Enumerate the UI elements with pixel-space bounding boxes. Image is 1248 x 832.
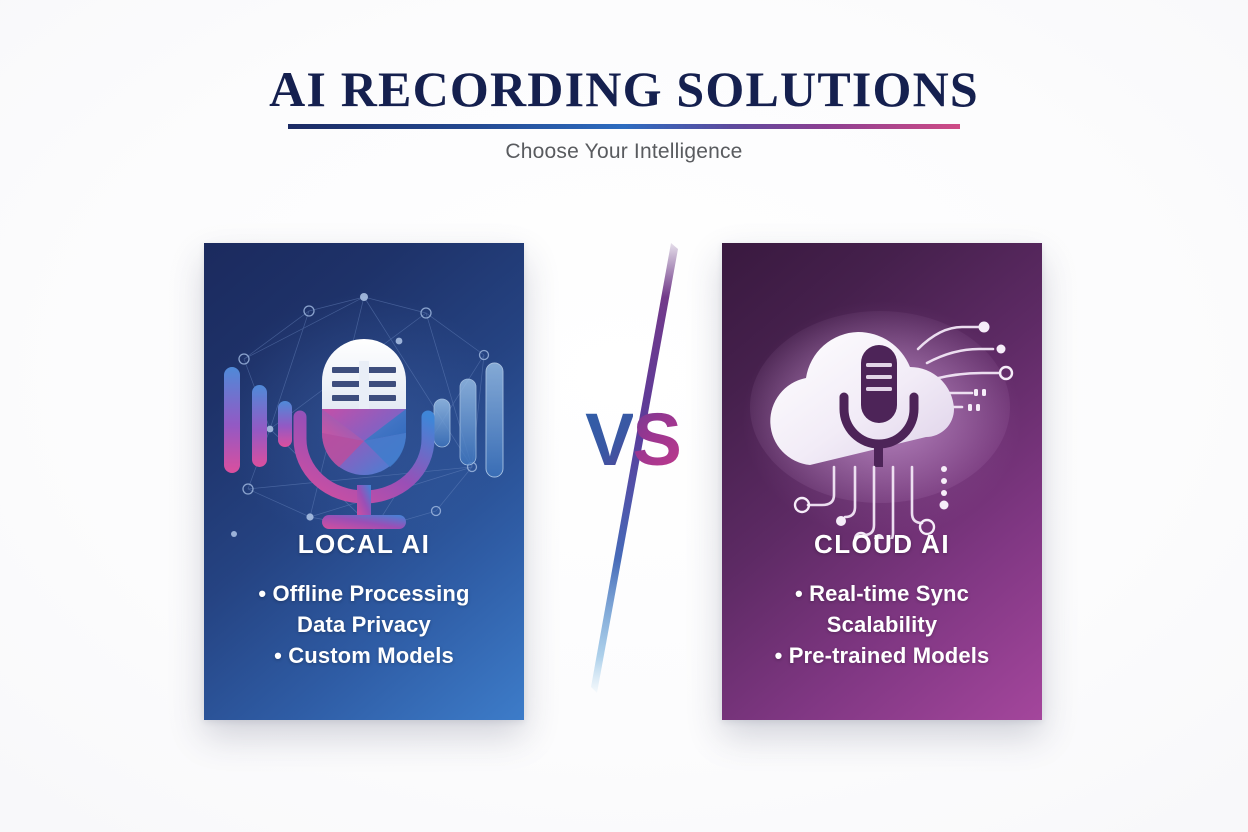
list-item: • Pre-trained Models xyxy=(722,640,1042,671)
list-item: Data Privacy xyxy=(204,609,524,640)
list-item: • Custom Models xyxy=(204,640,524,671)
feature-bullet: • xyxy=(258,581,272,606)
microphone-network-icon xyxy=(204,289,524,539)
feature-label: Real-time Sync xyxy=(809,581,969,606)
list-item: • Real-time Sync xyxy=(722,578,1042,609)
page-title: AI RECORDING SOLUTIONS xyxy=(0,62,1248,116)
card-local-heading: LOCAL AI xyxy=(204,529,524,560)
vs-label: VS xyxy=(545,403,720,477)
feature-label: Offline Processing xyxy=(273,581,470,606)
card-cloud-ai[interactable]: CLOUD AI • Real-time Sync Scalability • … xyxy=(722,243,1042,720)
header: AI RECORDING SOLUTIONS Choose Your Intel… xyxy=(0,62,1248,164)
list-item: Scalability xyxy=(722,609,1042,640)
infographic-canvas: AI RECORDING SOLUTIONS Choose Your Intel… xyxy=(0,0,1248,832)
feature-label: Custom Models xyxy=(288,643,454,668)
feature-label: Scalability xyxy=(827,612,937,637)
title-underline-gradient xyxy=(288,124,960,129)
page-subtitle: Choose Your Intelligence xyxy=(0,140,1248,164)
card-local-ai[interactable]: LOCAL AI • Offline Processing Data Priva… xyxy=(204,243,524,720)
feature-label: Pre-trained Models xyxy=(789,643,990,668)
feature-bullet: • xyxy=(775,643,789,668)
card-cloud-heading: CLOUD AI xyxy=(722,529,1042,560)
vs-letter-s: S xyxy=(633,398,680,481)
cloud-microphone-circuit-icon xyxy=(722,289,1042,539)
card-cloud-text: CLOUD AI • Real-time Sync Scalability • … xyxy=(722,529,1042,671)
vs-divider: VS xyxy=(545,243,720,693)
feature-bullet: • xyxy=(274,643,288,668)
feature-label: Data Privacy xyxy=(297,612,431,637)
vs-letter-v: V xyxy=(585,398,632,481)
list-item: • Offline Processing xyxy=(204,578,524,609)
card-local-feature-list: • Offline Processing Data Privacy • Cust… xyxy=(204,578,524,671)
feature-bullet: • xyxy=(795,581,809,606)
card-local-text: LOCAL AI • Offline Processing Data Priva… xyxy=(204,529,524,671)
card-cloud-feature-list: • Real-time Sync Scalability • Pre-train… xyxy=(722,578,1042,671)
